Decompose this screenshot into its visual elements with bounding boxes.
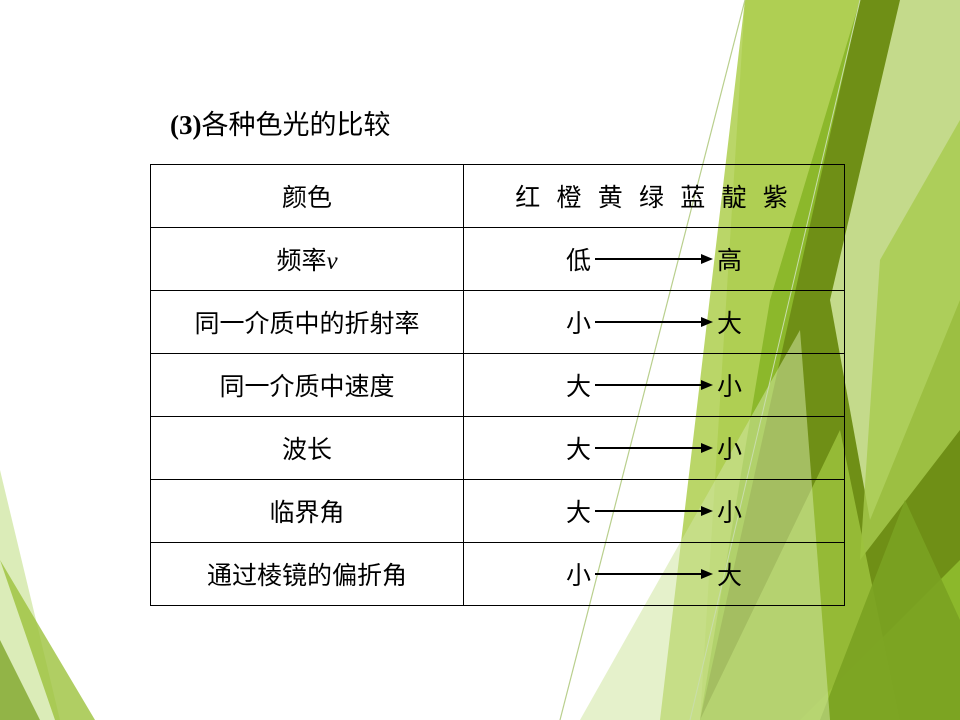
table-row: 颜色 红 橙 黄 绿 蓝 靛 紫 [151, 165, 845, 228]
row-value-prism-deviation: 小 大 [464, 543, 845, 606]
arrow-right-label: 小 [717, 430, 742, 466]
arrow-right-label: 大 [717, 556, 742, 592]
arrow-left-label: 大 [566, 493, 591, 529]
slide-content: (3)各种色光的比较 颜色 红 橙 黄 绿 蓝 靛 紫 频率ν 低 [0, 0, 960, 720]
row-label-critical-angle: 临界角 [151, 480, 464, 543]
row-label-prism-deviation: 通过棱镜的偏折角 [151, 543, 464, 606]
row-label-wavelength: 波长 [151, 417, 464, 480]
arrow-cell: 低 高 [464, 241, 844, 277]
arrow-right-label: 大 [717, 304, 742, 340]
slide: (3)各种色光的比较 颜色 红 橙 黄 绿 蓝 靛 紫 频率ν 低 [0, 0, 960, 720]
title-text: 各种色光的比较 [201, 110, 390, 140]
table-row: 波长 大 小 [151, 417, 845, 480]
right-arrow-icon [595, 315, 713, 329]
arrow-left-label: 大 [566, 367, 591, 403]
arrow-cell: 大 小 [464, 430, 844, 466]
comparison-table: 颜色 红 橙 黄 绿 蓝 靛 紫 频率ν 低 高 [150, 164, 845, 606]
arrow-left-label: 大 [566, 430, 591, 466]
table-row: 频率ν 低 高 [151, 228, 845, 291]
table-row: 同一介质中速度 大 小 [151, 354, 845, 417]
color-sequence: 红 橙 黄 绿 蓝 靛 紫 [515, 185, 793, 212]
table-row: 临界角 大 小 [151, 480, 845, 543]
arrow-right-label: 高 [717, 241, 742, 277]
arrow-right-label: 小 [717, 493, 742, 529]
table-row: 同一介质中的折射率 小 大 [151, 291, 845, 354]
table-row: 通过棱镜的偏折角 小 大 [151, 543, 845, 606]
arrow-cell: 大 小 [464, 493, 844, 529]
arrow-left-label: 低 [566, 241, 591, 277]
row-label-refractive-index: 同一介质中的折射率 [151, 291, 464, 354]
arrow-cell: 小 大 [464, 556, 844, 592]
row-label-color: 颜色 [151, 165, 464, 228]
arrow-left-label: 小 [566, 304, 591, 340]
row-value-critical-angle: 大 小 [464, 480, 845, 543]
arrow-cell: 小 大 [464, 304, 844, 340]
right-arrow-icon [595, 441, 713, 455]
arrow-cell: 大 小 [464, 367, 844, 403]
page-title: (3)各种色光的比较 [170, 103, 390, 142]
row-value-speed: 大 小 [464, 354, 845, 417]
row-value-wavelength: 大 小 [464, 417, 845, 480]
arrow-right-label: 小 [717, 367, 742, 403]
right-arrow-icon [595, 504, 713, 518]
row-value-color: 红 橙 黄 绿 蓝 靛 紫 [464, 165, 845, 228]
row-label-frequency: 频率ν [151, 228, 464, 291]
row-value-refractive-index: 小 大 [464, 291, 845, 354]
arrow-left-label: 小 [566, 556, 591, 592]
title-number: (3) [170, 110, 201, 140]
row-label-frequency-text: 频率 [276, 248, 326, 275]
row-label-speed: 同一介质中速度 [151, 354, 464, 417]
nu-symbol: ν [326, 248, 337, 275]
right-arrow-icon [595, 378, 713, 392]
right-arrow-icon [595, 252, 713, 266]
row-value-frequency: 低 高 [464, 228, 845, 291]
right-arrow-icon [595, 567, 713, 581]
